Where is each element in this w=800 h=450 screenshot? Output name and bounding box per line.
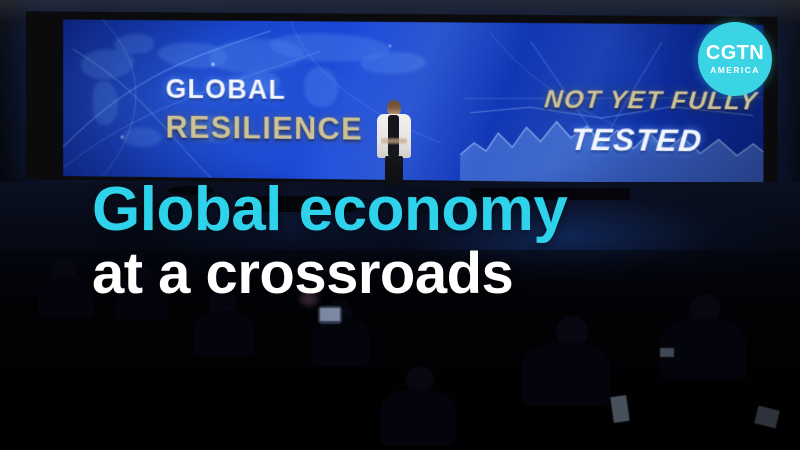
audience-paper-highlight: [610, 395, 629, 423]
audience-silhouette: [38, 276, 94, 318]
audience-silhouette: [522, 342, 610, 406]
speaker-figure: [372, 100, 416, 186]
logo-region: AMERICA: [710, 66, 759, 75]
audience-silhouette: [406, 366, 434, 392]
headline-line-1: Global economy: [92, 180, 567, 240]
cgtn-america-logo: CGTN AMERICA: [698, 22, 772, 96]
lower-third-headline: Global economy at a crossroads: [92, 180, 567, 301]
screen-headline-resilience: RESILIENCE: [166, 112, 364, 145]
broadcast-frame: GLOBAL RESILIENCE NOT YET FULLY TESTED C…: [0, 0, 800, 450]
audience-silhouette: [380, 390, 456, 446]
audience-device-screen: [660, 348, 674, 357]
headline-line-2: at a crossroads: [92, 246, 567, 302]
screen-headline-tested: TESTED: [569, 124, 703, 157]
audience-silhouette: [312, 318, 370, 366]
audience-paper-highlight: [754, 406, 780, 429]
screen-headline-global: GLOBAL: [166, 76, 287, 104]
audience-silhouette: [194, 310, 254, 356]
logo-name: CGTN: [706, 43, 764, 63]
audience-device-screen: [320, 308, 340, 321]
speaker-hands: [381, 136, 407, 146]
